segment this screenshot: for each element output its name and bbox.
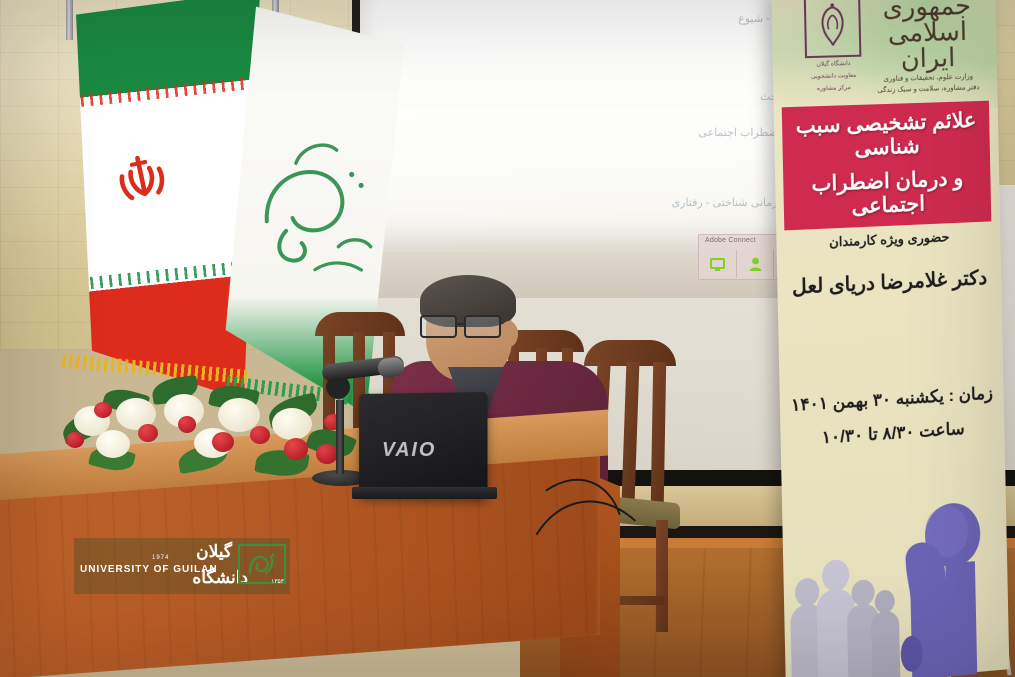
laptop-brand-label: VAIO — [382, 439, 436, 462]
watermark-year-gregorian: 1974 — [152, 555, 169, 561]
projection-screen: شناختی - شیوع تداوم بحث تداوم اضطراب اجت… — [360, 0, 820, 252]
monitor-icon[interactable] — [699, 250, 737, 278]
laptop-lid: VAIO — [359, 392, 487, 498]
banner-crowd-illustration — [789, 519, 903, 677]
banner-left-logo-line-2: معاونت دانشجویی — [801, 72, 866, 83]
banner-subtitle: حضوری ویژه کارمندان — [776, 227, 1000, 253]
eyeglasses-icon — [420, 315, 508, 335]
iran-emblem-icon — [106, 147, 178, 213]
laptop-base — [352, 487, 497, 499]
ministry-emblem-icon: جمهوری اسلامی ایران — [867, 0, 987, 72]
adobe-connect-label: Adobe Connect — [705, 237, 756, 244]
banner-right-logo: جمهوری اسلامی ایران وزارت علوم، تحقیقات … — [867, 0, 988, 94]
university-watermark: UNIVERSITY OF GUILAN 1974 گیلان دانشگاه … — [74, 538, 290, 594]
banner-title-line-2: و درمان اضطراب اجتماعی — [783, 166, 991, 223]
banner-left-logo: دانشگاه گیلان معاونت دانشجویی مرکز مشاور… — [800, 0, 866, 95]
banner-title-box: علائم تشخیصی سبب شناسی و درمان اضطراب اج… — [782, 101, 992, 231]
microphone-stem — [336, 400, 344, 474]
event-banner: دانشگاه گیلان معاونت دانشجویی مرکز مشاور… — [771, 0, 1009, 677]
banner-isolated-figure-illustration — [891, 499, 989, 677]
banner-title-line-1: علائم تشخیصی سبب شناسی — [782, 108, 990, 164]
banner-ministry-line-1: وزارت علوم، تحقیقات و فناوری — [869, 72, 988, 83]
person-icon[interactable] — [737, 250, 775, 278]
banner-event-time: ساعت ۸/۳۰ تا ۱۰/۳۰ — [780, 417, 1004, 451]
watermark-persian-line-1: گیلان — [196, 542, 232, 562]
watermark-year-persian: ۱۳۵۳ — [271, 578, 284, 585]
floral-arrangement — [60, 372, 370, 482]
iran-flag-pole — [66, 0, 73, 40]
banner-event-date: زمان : یکشنبه ۳۰ بهمن ۱۴۰۱ — [780, 383, 1004, 417]
banner-speaker-name: دکتر غلامرضا دریای لعل — [777, 264, 1001, 300]
counseling-center-logo-icon — [804, 0, 862, 58]
university-flag-calligraphy-icon — [227, 111, 398, 313]
photo-scene: شناختی - شیوع تداوم بحث تداوم اضطراب اجت… — [0, 0, 1015, 677]
banner-left-logo-line-1: دانشگاه گیلان — [801, 60, 866, 71]
